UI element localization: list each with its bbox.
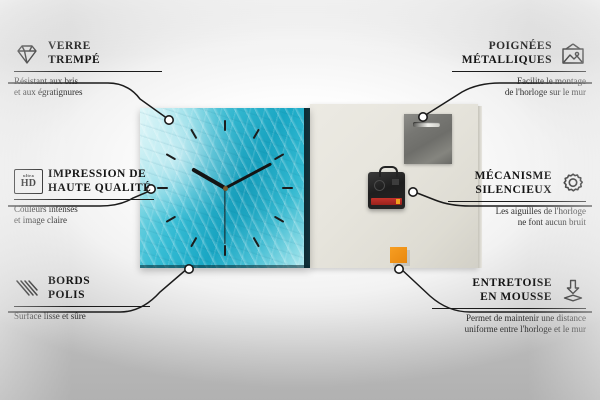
callout-title: IMPRESSION DE HAUTE QUALITÉ [48, 168, 151, 195]
callout-header: VERRE TREMPÉ [14, 40, 162, 67]
mechanism-dial [374, 180, 385, 191]
clock-tick [157, 187, 225, 189]
callout-header: POIGNÉES MÉTALLIQUES [452, 40, 586, 67]
foam-spacer [390, 247, 407, 263]
callout-mecanisme-silencieux: MÉCANISME SILENCIEUX Les aiguilles de l'… [448, 170, 586, 228]
callout-verre-trempe: VERRE TREMPÉ Résistant aux bris et aux é… [14, 40, 162, 98]
callout-entretoise-en-mousse: ENTRETOISE EN MOUSSE Permet de maintenir… [432, 277, 586, 335]
callout-rule [14, 306, 150, 307]
callout-subtitle: Les aiguilles de l'horloge ne font aucun… [448, 206, 586, 228]
callout-title: ENTRETOISE EN MOUSSE [472, 277, 552, 304]
infographic-stage: VERRE TREMPÉ Résistant aux bris et aux é… [0, 0, 600, 400]
callout-rule [448, 201, 586, 202]
clock-dial [140, 108, 310, 268]
callout-subtitle: Couleurs intenses et image claire [14, 204, 154, 226]
clock-center-cap [223, 186, 228, 191]
metal-hanger-plate [404, 114, 452, 164]
clock-tick [224, 120, 226, 188]
polished-edges-icon [14, 276, 40, 302]
foam-spacer-arrow-icon [560, 278, 586, 304]
callout-subtitle: Facilite le montage de l'horloge sur le … [452, 76, 586, 98]
mechanism-hanger-loop [379, 166, 398, 177]
diamond-icon [14, 41, 40, 67]
callout-rule [452, 71, 586, 72]
callout-bords-polis: BORDS POLIS Surface lisse et sûre [14, 275, 150, 322]
callout-rule [14, 71, 162, 72]
hanger-slot [413, 122, 440, 127]
callout-rule [432, 308, 586, 309]
callout-header: ultra HD IMPRESSION DE HAUTE QUALITÉ [14, 168, 154, 195]
clock-tick [225, 187, 293, 189]
callout-title: VERRE TREMPÉ [48, 40, 100, 67]
callout-subtitle: Résistant aux bris et aux égratignures [14, 76, 162, 98]
callout-subtitle: Permet de maintenir une distance uniform… [432, 313, 586, 335]
callout-title: POIGNÉES MÉTALLIQUES [462, 40, 552, 67]
callout-header: BORDS POLIS [14, 275, 150, 302]
callout-title: MÉCANISME SILENCIEUX [475, 170, 552, 197]
gear-icon [560, 171, 586, 197]
wall-mount-frame-icon [560, 41, 586, 67]
callout-subtitle: Surface lisse et sûre [14, 311, 150, 322]
callout-impression-haute-qualite: ultra HD IMPRESSION DE HAUTE QUALITÉ Cou… [14, 168, 154, 226]
mechanism-block [392, 179, 399, 185]
callout-rule [14, 199, 154, 200]
callout-header: MÉCANISME SILENCIEUX [448, 170, 586, 197]
ultra-hd-icon: ultra HD [14, 169, 40, 195]
callout-header: ENTRETOISE EN MOUSSE [432, 277, 586, 304]
callout-poignees-metalliques: POIGNÉES MÉTALLIQUES Facilite le montage… [452, 40, 586, 98]
battery [371, 198, 402, 205]
clock-mechanism [368, 172, 405, 209]
callout-title: BORDS POLIS [48, 275, 90, 302]
clock-tick [166, 187, 226, 223]
